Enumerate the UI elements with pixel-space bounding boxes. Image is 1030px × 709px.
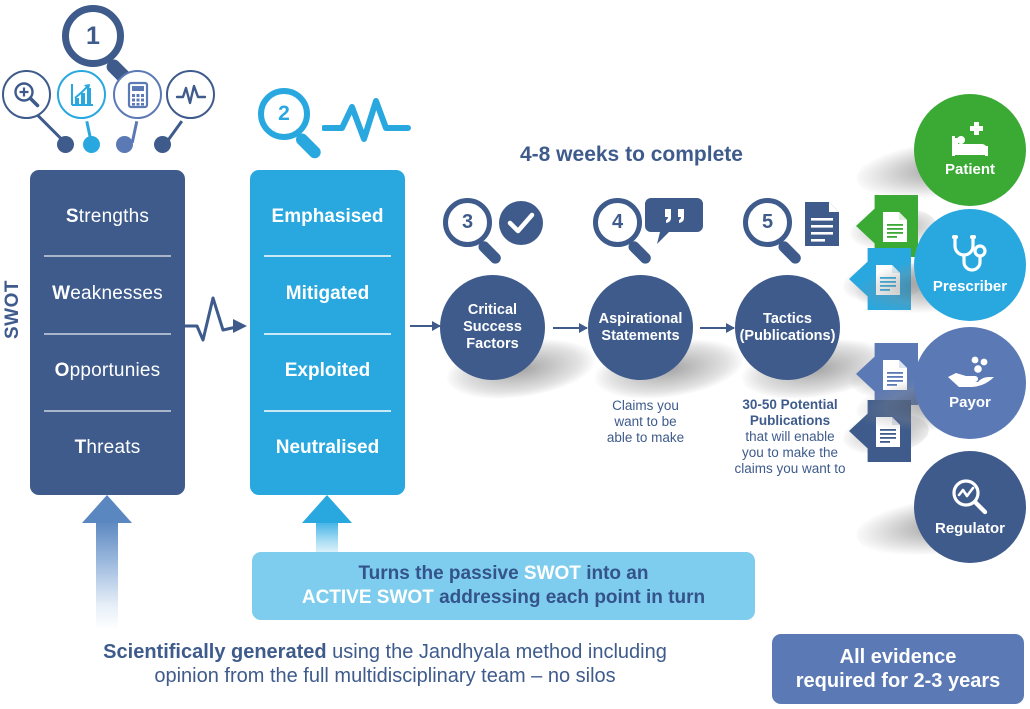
- swot-rest: hreats: [86, 437, 140, 459]
- swot-initial: O: [55, 360, 70, 382]
- hand-coins-icon: [945, 355, 995, 391]
- up-arrow-active: [277, 495, 377, 557]
- swot-rest: pportunies: [70, 360, 161, 382]
- payor-circle: Payor: [914, 327, 1026, 439]
- callout-line1-hl: SWOT: [524, 563, 581, 584]
- document-icon: [803, 200, 841, 248]
- magnifier-icon: [776, 239, 803, 266]
- swot-vertical-label: SWOT: [2, 280, 24, 339]
- swot-row-opportunities: Opportunies: [30, 333, 185, 410]
- regulator-circle: Regulator: [914, 451, 1026, 563]
- prescriber-label: Prescriber: [933, 278, 1007, 295]
- payor-label: Payor: [949, 394, 991, 411]
- pulse-connector-arrow: [183, 292, 253, 354]
- step-5-number: 5: [743, 198, 792, 247]
- footnote-text: Scientifically generated using the Jandh…: [20, 640, 750, 689]
- tactics-circle: Tactics (Publications): [735, 275, 840, 380]
- csf-label: Critical Success Factors: [463, 302, 522, 352]
- quote-bubble-icon: [645, 196, 703, 248]
- arrow-active-to-csf: [410, 325, 440, 327]
- pulse-wave-icon: [166, 70, 215, 119]
- callout-line1-b: into an: [581, 563, 649, 584]
- patient-circle: Patient: [914, 94, 1026, 206]
- connector-line: [131, 121, 138, 143]
- bar-chart-growth-icon: [57, 70, 106, 119]
- active-swot-callout: Turns the passive SWOT into an ACTIVE SW…: [252, 552, 755, 620]
- tactics-label: Tactics (Publications): [740, 311, 836, 344]
- infographic-canvas: 1: [0, 0, 1030, 709]
- footnote-bold: Scientifically generated: [103, 641, 326, 663]
- step-4-number: 4: [593, 198, 642, 247]
- evidence-line2: required for 2-3 years: [796, 670, 1001, 692]
- caption-claims: Claims you want to be able to make: [578, 398, 713, 446]
- active-row-mitigated: Mitigated: [250, 255, 405, 332]
- evidence-box: All evidence required for 2-3 years: [772, 634, 1024, 704]
- swot-row-weaknesses: Weaknesses: [30, 255, 185, 332]
- patient-label: Patient: [945, 161, 995, 178]
- arrow-head: [302, 495, 352, 523]
- footnote-rest: using the Jandhyala method including: [327, 641, 667, 663]
- swot-initial: T: [75, 437, 87, 459]
- swot-initial: S: [66, 206, 79, 228]
- step-3-number: 3: [443, 198, 492, 247]
- evidence-line1: All evidence: [840, 646, 957, 668]
- hospital-bed-icon: [947, 122, 993, 158]
- swot-initial: W: [52, 283, 70, 305]
- aspirational-circle: Aspirational Statements: [588, 275, 693, 380]
- caption-bold-line-1: 30-50 Potential: [742, 397, 837, 412]
- prescriber-circle: Prescriber: [914, 209, 1026, 321]
- swot-row-threats: Threats: [30, 410, 185, 487]
- regulator-label: Regulator: [935, 520, 1005, 537]
- evidence-text: All evidence required for 2-3 years: [796, 645, 1001, 694]
- swot-row-strengths: Strengths: [30, 178, 185, 255]
- stethoscope-icon: [948, 235, 992, 275]
- active-swot-box: Emphasised Mitigated Exploited Neutralis…: [250, 170, 405, 495]
- arrow-head: [82, 495, 132, 523]
- connector-dot: [116, 136, 133, 153]
- callout-line2-b: addressing each point in turn: [434, 587, 705, 608]
- step-1-number: 1: [62, 5, 124, 67]
- step-2-pulse-icon: [322, 95, 412, 145]
- active-row-emphasised: Emphasised: [250, 178, 405, 255]
- arrow-shaft: [96, 521, 118, 630]
- swot-rest: eaknesses: [70, 283, 163, 305]
- document-icon: [882, 211, 908, 243]
- calculator-icon: [113, 70, 162, 119]
- callout-line1-a: Turns the passive: [358, 563, 523, 584]
- swot-box: Strengths Weaknesses Opportunies Threats: [30, 170, 185, 495]
- csf-circle: Critical Success Factors: [440, 275, 545, 380]
- active-row-neutralised: Neutralised: [250, 410, 405, 487]
- caption-bold-line-2: Publications: [750, 413, 830, 428]
- active-row-exploited: Exploited: [250, 333, 405, 410]
- magnifier-chart-icon: [949, 477, 991, 517]
- arrow-csf-to-aspirational: [553, 327, 587, 329]
- magnifier-plus-icon: [2, 70, 51, 119]
- magnifier-icon: [294, 131, 324, 161]
- up-arrow-swot: [57, 495, 157, 630]
- timeline-label: 4-8 weeks to complete: [520, 143, 743, 167]
- callout-text: Turns the passive SWOT into an ACTIVE SW…: [302, 562, 705, 610]
- process-circle-aspirational: Aspirational Statements: [588, 275, 758, 400]
- footnote-line2: opinion from the full multidisciplinary …: [154, 665, 615, 687]
- callout-line2-hl: ACTIVE SWOT: [302, 587, 434, 608]
- connector-dot: [83, 136, 100, 153]
- check-circle-icon: [497, 199, 545, 247]
- swot-rest: trengths: [79, 206, 149, 228]
- connector-dot: [154, 136, 171, 153]
- process-circle-csf: Critical Success Factors: [440, 275, 610, 400]
- arrow-aspirational-to-tactics: [700, 327, 734, 329]
- aspirational-label: Aspirational Statements: [599, 311, 683, 344]
